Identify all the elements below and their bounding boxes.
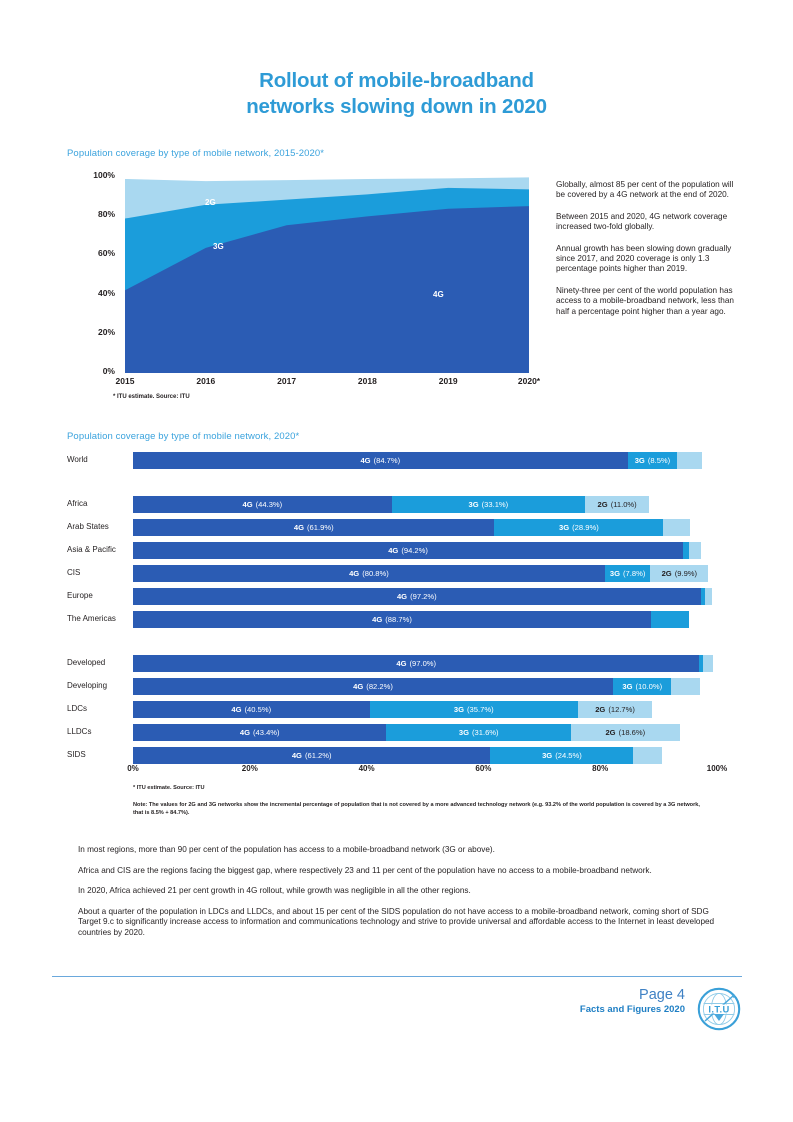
segment-value-label: (11.0%) xyxy=(611,500,637,509)
segment-series-label: 4G xyxy=(231,705,241,714)
bar-segment-4g[interactable]: 4G(82.2%) xyxy=(133,678,613,695)
bar-segment-2g[interactable] xyxy=(677,452,702,469)
segment-value-label: (12.7%) xyxy=(608,705,635,714)
bar-segment-3g[interactable] xyxy=(651,611,689,628)
bar-segment-4g[interactable]: 4G(61.9%) xyxy=(133,519,494,536)
bar-segment-3g[interactable]: 3G(28.9%) xyxy=(494,519,663,536)
segment-series-label: 3G xyxy=(622,682,632,691)
bar-row: Developing4G(82.2%)3G(10.0%) xyxy=(67,678,727,695)
commentary-paragraph: Ninety-three per cent of the world popul… xyxy=(556,286,738,317)
bar-x-tick-20: 20% xyxy=(242,764,258,773)
bar-x-tick-100: 100% xyxy=(707,764,727,773)
bar-track: 4G(44.3%)3G(33.1%)2G(11.0%) xyxy=(133,496,717,513)
body-paragraph: In 2020, Africa achieved 21 per cent gro… xyxy=(78,886,718,897)
bar-track: 4G(80.8%)3G(7.8%)2G(9.9%) xyxy=(133,565,717,582)
area-chart-plot: 2G 3G 4G xyxy=(125,176,529,373)
y-tick-20: 20% xyxy=(75,327,115,337)
bar-row-label: Africa xyxy=(67,499,129,508)
segment-series-label: 4G xyxy=(397,592,407,601)
commentary-paragraph: Globally, almost 85 per cent of the popu… xyxy=(556,180,738,201)
segment-value-label: (88.7%) xyxy=(385,615,412,624)
bar-chart-x-axis: 0%20%40%60%80%100% xyxy=(133,764,717,778)
bar-segment-3g[interactable]: 3G(10.0%) xyxy=(613,678,671,695)
segment-value-label: (97.0%) xyxy=(410,659,437,668)
segment-value-label: (40.5%) xyxy=(245,705,272,714)
area-chart-source: * ITU estimate. Source: ITU xyxy=(113,394,190,400)
bar-segment-2g[interactable] xyxy=(689,542,701,559)
segment-value-label: (84.7%) xyxy=(374,456,401,465)
x-tick-2019: 2019 xyxy=(439,376,458,386)
bar-segment-3g[interactable]: 3G(35.7%) xyxy=(370,701,578,718)
bar-row-label: LLDCs xyxy=(67,727,129,736)
segment-series-label: 3G xyxy=(635,456,645,465)
segment-value-label: (61.2%) xyxy=(305,751,332,760)
y-tick-40: 40% xyxy=(75,288,115,298)
bar-chart-note: Note: The values for 2G and 3G networks … xyxy=(133,802,703,817)
segment-value-label: (43.4%) xyxy=(253,728,280,737)
segment-value-label: (8.5%) xyxy=(648,456,670,465)
segment-series-label: 4G xyxy=(240,728,250,737)
y-tick-60: 60% xyxy=(75,248,115,258)
segment-value-label: (28.9%) xyxy=(572,523,599,532)
x-tick-2016: 2016 xyxy=(196,376,215,386)
bar-segment-4g[interactable]: 4G(40.5%) xyxy=(133,701,370,718)
x-tick-2017: 2017 xyxy=(277,376,296,386)
bar-segment-2g[interactable]: 2G(9.9%) xyxy=(650,565,708,582)
page-footer: Page 4 Facts and Figures 2020 I.T.U xyxy=(481,986,741,1032)
body-commentary: In most regions, more than 90 per cent o… xyxy=(78,845,718,949)
segment-series-label: 4G xyxy=(349,569,359,578)
bar-row: Asia & Pacific4G(94.2%) xyxy=(67,542,727,559)
bar-segment-2g[interactable] xyxy=(705,588,713,605)
page-title-line1: Rollout of mobile-broadband xyxy=(259,69,534,92)
bar-segment-4g[interactable]: 4G(44.3%) xyxy=(133,496,392,513)
segment-value-label: (9.9%) xyxy=(675,569,697,578)
bar-x-tick-60: 60% xyxy=(475,764,491,773)
bar-segment-4g[interactable]: 4G(97.0%) xyxy=(133,655,699,672)
area-chart-y-axis: 100% 80% 60% 40% 20% 0% xyxy=(67,170,115,373)
segment-series-label: 3G xyxy=(459,728,469,737)
bar-segment-4g[interactable]: 4G(43.4%) xyxy=(133,724,386,741)
segment-series-label: 2G xyxy=(605,728,615,737)
bar-segment-4g[interactable]: 4G(97.2%) xyxy=(133,588,701,605)
bar-chart: World4G(84.7%)3G(8.5%)Africa4G(44.3%)3G(… xyxy=(67,452,727,797)
segment-value-label: (18.6%) xyxy=(619,728,646,737)
bar-row: Europe4G(97.2%) xyxy=(67,588,727,605)
bar-segment-3g[interactable]: 3G(7.8%) xyxy=(605,565,651,582)
segment-value-label: (82.2%) xyxy=(366,682,393,691)
bar-x-tick-80: 80% xyxy=(592,764,608,773)
footer-text: Page 4 Facts and Figures 2020 xyxy=(580,986,685,1016)
bar-row-label: Asia & Pacific xyxy=(67,545,129,554)
y-tick-100: 100% xyxy=(75,170,115,180)
bar-segment-3g[interactable]: 3G(31.6%) xyxy=(386,724,571,741)
bar-segment-4g[interactable]: 4G(80.8%) xyxy=(133,565,605,582)
segment-series-label: 4G xyxy=(353,682,363,691)
bar-track: 4G(40.5%)3G(35.7%)2G(12.7%) xyxy=(133,701,717,718)
bar-row-label: World xyxy=(67,455,129,464)
page-canvas: Rollout of mobile-broadband networks slo… xyxy=(0,0,793,1122)
body-paragraph: In most regions, more than 90 per cent o… xyxy=(78,845,718,856)
x-tick-2018: 2018 xyxy=(358,376,377,386)
segment-series-label: 4G xyxy=(396,659,406,668)
bar-row: LDCs4G(40.5%)3G(35.7%)2G(12.7%) xyxy=(67,701,727,718)
bar-row-label: Developing xyxy=(67,681,129,690)
bar-row-label: Europe xyxy=(67,591,129,600)
segment-series-label: 4G xyxy=(294,523,304,532)
bar-row: Africa4G(44.3%)3G(33.1%)2G(11.0%) xyxy=(67,496,727,513)
body-paragraph: Africa and CIS are the regions facing th… xyxy=(78,866,718,877)
segment-value-label: (44.3%) xyxy=(256,500,283,509)
segment-series-label: 4G xyxy=(360,456,370,465)
section-heading-bar-chart: Population coverage by type of mobile ne… xyxy=(67,431,299,442)
bar-segment-4g[interactable]: 4G(61.2%) xyxy=(133,747,490,764)
segment-value-label: (35.7%) xyxy=(467,705,494,714)
area-chart: 100% 80% 60% 40% 20% 0% 2G 3G 4G 2015201… xyxy=(67,170,537,390)
segment-series-label: 3G xyxy=(610,569,620,578)
bar-segment-2g[interactable]: 2G(11.0%) xyxy=(585,496,649,513)
bar-segment-3g[interactable]: 3G(8.5%) xyxy=(628,452,678,469)
bar-row: SIDS4G(61.2%)3G(24.5%) xyxy=(67,747,727,764)
segment-series-label: 2G xyxy=(595,705,605,714)
page-title-line2: networks slowing down in 2020 xyxy=(0,94,793,120)
area-label-4g: 4G xyxy=(433,290,444,299)
bar-track: 4G(97.0%) xyxy=(133,655,717,672)
area-label-3g: 3G xyxy=(213,242,224,251)
bar-row: Developed4G(97.0%) xyxy=(67,655,727,672)
footer-divider xyxy=(52,976,742,977)
bar-row: World4G(84.7%)3G(8.5%) xyxy=(67,452,727,469)
area-chart-svg xyxy=(125,176,529,373)
segment-series-label: 3G xyxy=(468,500,478,509)
bar-track: 4G(61.9%)3G(28.9%) xyxy=(133,519,717,536)
bar-segment-2g[interactable]: 2G(12.7%) xyxy=(578,701,652,718)
bar-row: The Americas4G(88.7%) xyxy=(67,611,727,628)
bar-row: Arab States4G(61.9%)3G(28.9%) xyxy=(67,519,727,536)
segment-value-label: (97.2%) xyxy=(410,592,437,601)
segment-series-label: 2G xyxy=(598,500,608,509)
area-chart-commentary: Globally, almost 85 per cent of the popu… xyxy=(556,180,738,328)
bar-row-label: LDCs xyxy=(67,704,129,713)
segment-series-label: 3G xyxy=(542,751,552,760)
segment-value-label: (7.8%) xyxy=(623,569,645,578)
body-paragraph: About a quarter of the population in LDC… xyxy=(78,907,718,939)
bar-track: 4G(43.4%)3G(31.6%)2G(18.6%) xyxy=(133,724,717,741)
bar-segment-4g[interactable]: 4G(84.7%) xyxy=(133,452,628,469)
segment-series-label: 4G xyxy=(372,615,382,624)
bar-x-tick-0: 0% xyxy=(127,764,139,773)
x-tick-2015: 2015 xyxy=(116,376,135,386)
bar-segment-4g[interactable]: 4G(88.7%) xyxy=(133,611,651,628)
area-label-2g: 2G xyxy=(205,198,216,207)
svg-text:I.T.U: I.T.U xyxy=(708,1003,729,1014)
bar-track: 4G(82.2%)3G(10.0%) xyxy=(133,678,717,695)
bar-segment-2g[interactable] xyxy=(663,519,690,536)
bar-row-label: SIDS xyxy=(67,750,129,759)
bar-row-label: CIS xyxy=(67,568,129,577)
segment-series-label: 3G xyxy=(454,705,464,714)
bar-segment-2g[interactable]: 2G(18.6%) xyxy=(571,724,680,741)
bar-segment-3g[interactable]: 3G(33.1%) xyxy=(392,496,585,513)
segment-value-label: (94.2%) xyxy=(401,546,428,555)
segment-series-label: 4G xyxy=(388,546,398,555)
commentary-paragraph: Between 2015 and 2020, 4G network covera… xyxy=(556,212,738,233)
bar-row-label: Developed xyxy=(67,658,129,667)
bar-track: 4G(84.7%)3G(8.5%) xyxy=(133,452,717,469)
segment-series-label: 4G xyxy=(292,751,302,760)
segment-value-label: (31.6%) xyxy=(472,728,499,737)
bar-row-label: Arab States xyxy=(67,522,129,531)
segment-value-label: (33.1%) xyxy=(482,500,509,509)
section-heading-area-chart: Population coverage by type of mobile ne… xyxy=(67,148,324,159)
bar-track: 4G(61.2%)3G(24.5%) xyxy=(133,747,717,764)
x-tick-2020: 2020* xyxy=(518,376,540,386)
bar-segment-2g[interactable] xyxy=(671,678,700,695)
page-title: Rollout of mobile-broadband networks slo… xyxy=(0,68,793,120)
segment-series-label: 2G xyxy=(662,569,672,578)
bar-segment-2g[interactable] xyxy=(703,655,713,672)
segment-series-label: 3G xyxy=(559,523,569,532)
commentary-paragraph: Annual growth has been slowing down grad… xyxy=(556,244,738,275)
segment-value-label: (61.9%) xyxy=(307,523,334,532)
segment-value-label: (24.5%) xyxy=(555,751,582,760)
bar-segment-4g[interactable]: 4G(94.2%) xyxy=(133,542,683,559)
publication-name: Facts and Figures 2020 xyxy=(580,1004,685,1016)
itu-logo-icon: I.T.U xyxy=(697,987,741,1031)
bar-track: 4G(88.7%) xyxy=(133,611,717,628)
segment-series-label: 4G xyxy=(242,500,252,509)
page-number: Page 4 xyxy=(580,986,685,1004)
bar-x-tick-40: 40% xyxy=(359,764,375,773)
bar-track: 4G(97.2%) xyxy=(133,588,717,605)
segment-value-label: (80.8%) xyxy=(362,569,389,578)
bar-segment-2g[interactable] xyxy=(633,747,661,764)
bar-track: 4G(94.2%) xyxy=(133,542,717,559)
y-tick-80: 80% xyxy=(75,209,115,219)
bar-row-label: The Americas xyxy=(67,614,129,623)
area-chart-x-axis: 201520162017201820192020* xyxy=(125,376,529,390)
bar-row: LLDCs4G(43.4%)3G(31.6%)2G(18.6%) xyxy=(67,724,727,741)
y-tick-0: 0% xyxy=(75,366,115,376)
segment-value-label: (10.0%) xyxy=(636,682,663,691)
bar-segment-3g[interactable]: 3G(24.5%) xyxy=(490,747,633,764)
bar-chart-source: * ITU estimate. Source: ITU xyxy=(133,785,205,791)
bar-row: CIS4G(80.8%)3G(7.8%)2G(9.9%) xyxy=(67,565,727,582)
